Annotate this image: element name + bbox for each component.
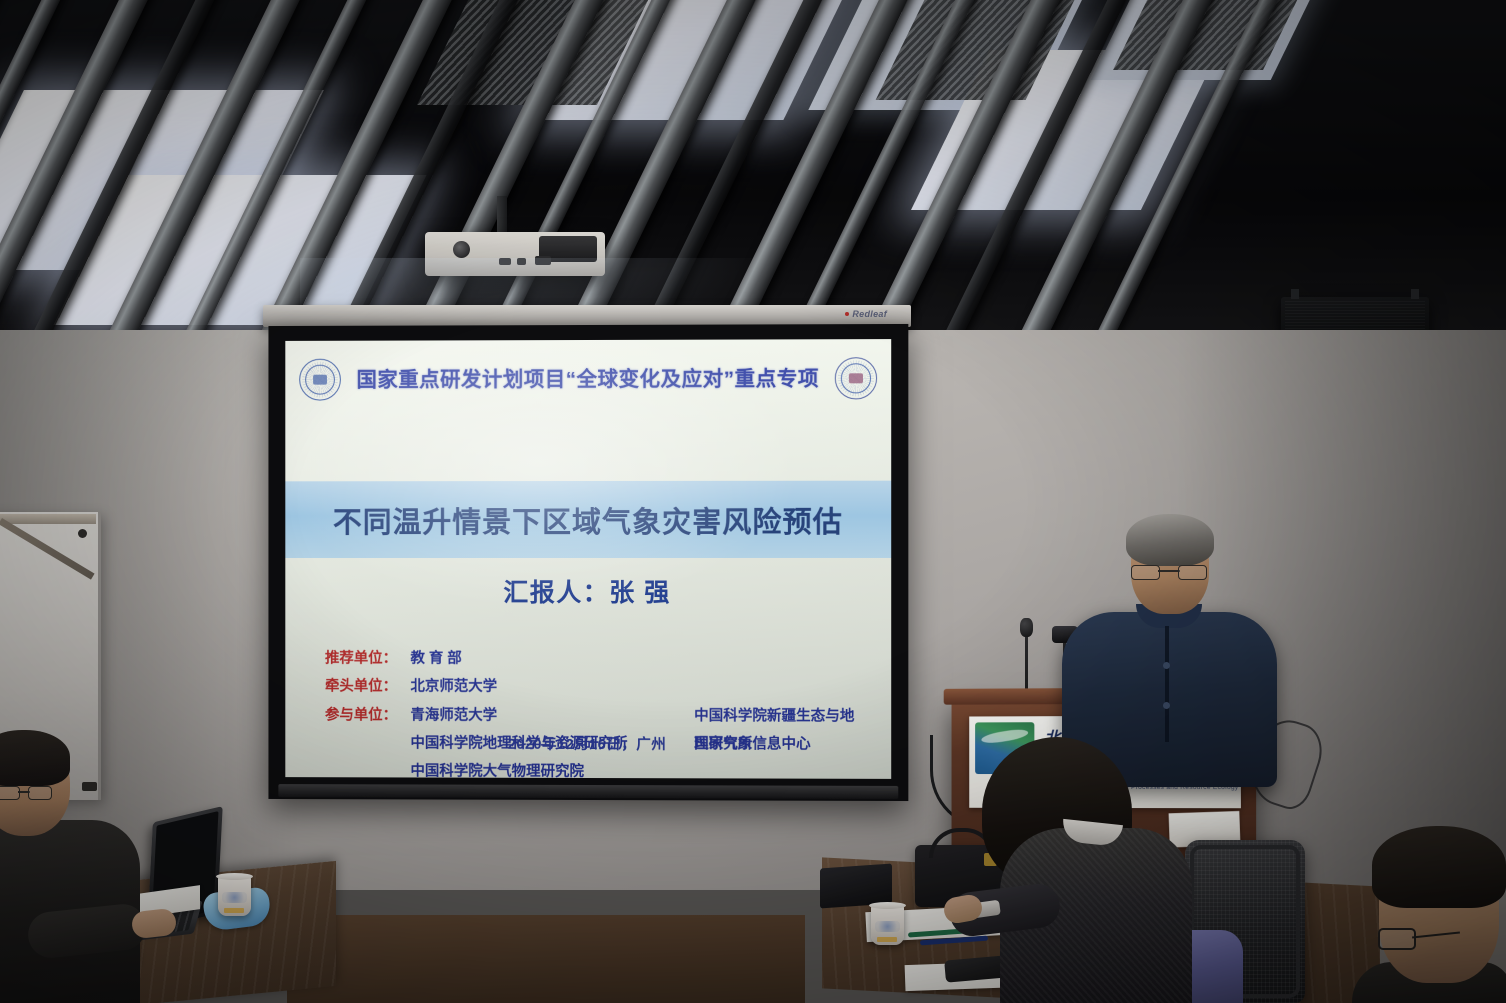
projector-port [535, 256, 551, 265]
front-wood-panel [287, 915, 805, 1003]
projector-port [517, 258, 526, 265]
glasses-lens-right [1178, 565, 1207, 580]
org-value: 中国科学院大气物理研究院 [410, 758, 584, 779]
screen-weight-bar [278, 784, 898, 799]
slide-title: 不同温升情景下区域气象灾害风险预估 [333, 498, 843, 540]
seal-core [313, 375, 327, 385]
org-value: 北京师范大学 [410, 673, 497, 701]
seal-core [849, 373, 863, 383]
glasses-lens-left [1378, 928, 1416, 950]
org-row: 参与单位： 青海师范大学 中国科学院新疆生态与地理研究所 [325, 701, 867, 730]
projector-lens [453, 241, 470, 258]
slide-header-row: 国家重点研发计划项目“全球变化及应对”重点专项 [285, 353, 891, 401]
glasses-lens-left [1131, 565, 1160, 580]
ceiling-projector [425, 232, 605, 276]
whiteboard-bracket [0, 514, 96, 584]
glasses-lens-right [28, 786, 52, 800]
brand-dot-icon [845, 312, 849, 316]
projection-screen: 国家重点研发计划项目“全球变化及应对”重点专项 不同温升情景下区域气象灾害风险预… [268, 324, 908, 801]
cup-label [877, 937, 897, 942]
screen-brand-label: Redleaf [852, 309, 887, 319]
slide-header-text: 国家重点研发计划项目“全球变化及应对”重点专项 [357, 361, 819, 392]
org-row: 牵头单位： 北京师范大学 [325, 673, 867, 702]
org-row: 中国科学院大气物理研究院 [325, 757, 867, 779]
org-value: 教 育 部 [410, 645, 461, 673]
slide-organizations: 推荐单位： 教 育 部 牵头单位： 北京师范大学 参与单位： 青海师范大学 中国… [325, 645, 867, 779]
whiteboard-knob [78, 529, 87, 538]
paper-cup [871, 905, 904, 945]
conference-room-scene: Redleaf 国家重点研发计划项目“全球变化及应对”重点专项 [0, 0, 1506, 1003]
projector-port [499, 258, 511, 265]
screen-brand: Redleaf [845, 309, 887, 319]
cup-label [224, 908, 244, 913]
seated-man-right-hair [1372, 826, 1506, 908]
cup-logo [222, 892, 247, 903]
org-label: 参与单位： [325, 701, 410, 729]
seated-man-right-glasses-icon [1378, 928, 1460, 946]
org-label: 推荐单位： [325, 645, 410, 673]
glasses-bridge [1158, 570, 1180, 572]
glasses-lens-left [0, 786, 20, 800]
cup-logo [875, 921, 900, 932]
org-value: 青海师范大学 [410, 701, 497, 729]
whiteboard-foot [82, 782, 97, 791]
projection-screen-surface: 国家重点研发计划项目“全球变化及应对”重点专项 不同温升情景下区域气象灾害风险预… [285, 339, 891, 779]
glasses-temple-arm [1412, 931, 1460, 938]
speaker-bracket [1291, 289, 1299, 299]
ceiling [0, 0, 1506, 335]
presenter-shirt-button [1163, 702, 1170, 709]
org-label: 牵头单位： [325, 673, 410, 701]
slide-date-location: 2020年12月16日，广州 [285, 732, 891, 755]
presenter-shirt-button [1163, 662, 1170, 669]
org-row: 推荐单位： 教 育 部 [325, 645, 867, 674]
presenter-shirt-placket [1165, 626, 1169, 742]
paper-cup [218, 876, 251, 916]
slide-presenter: 汇报人：张 强 [285, 573, 891, 609]
slide-title-band: 不同温升情景下区域气象灾害风险预估 [285, 481, 891, 558]
speaker-bracket [1411, 289, 1419, 299]
presenter-glasses-icon [1131, 565, 1207, 578]
university-seal-right-icon [835, 357, 877, 399]
presenter-hair [1126, 514, 1214, 566]
seated-man-left-glasses-icon [0, 786, 52, 798]
university-seal-left-icon [299, 359, 341, 401]
microphone-head-icon [1020, 618, 1033, 637]
presentation-slide: 国家重点研发计划项目“全球变化及应对”重点专项 不同温升情景下区域气象灾害风险预… [285, 339, 891, 779]
